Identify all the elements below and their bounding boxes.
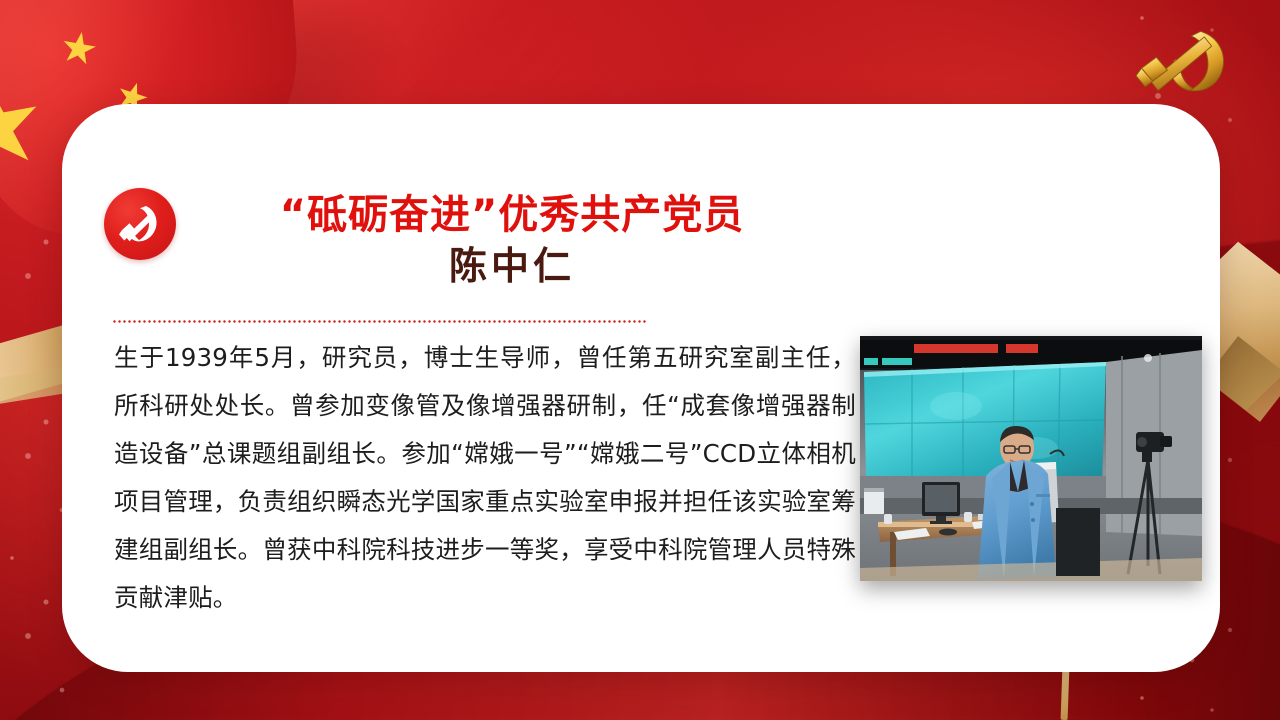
biography-text: 生于1939年5月，研究员，博士生导师，曾任第五研究室副主任，所科研处处长。曾参… xyxy=(114,334,856,622)
hammer-and-sickle-badge-icon xyxy=(104,188,176,260)
hammer-and-sickle-gold-icon xyxy=(1128,24,1240,96)
slide-canvas: “砥砺奋进”优秀共产党员 陈中仁 生于1939年5月，研究员，博士生导师，曾任第… xyxy=(0,0,1280,720)
dotted-divider xyxy=(112,320,648,323)
page-title: “砥砺奋进”优秀共产党员 xyxy=(212,192,812,239)
content-card: “砥砺奋进”优秀共产党员 陈中仁 生于1939年5月，研究员，博士生导师，曾任第… xyxy=(62,104,1220,672)
title-block: “砥砺奋进”优秀共产党员 陈中仁 xyxy=(212,192,812,289)
member-name: 陈中仁 xyxy=(212,245,812,289)
member-photo xyxy=(860,336,1202,581)
